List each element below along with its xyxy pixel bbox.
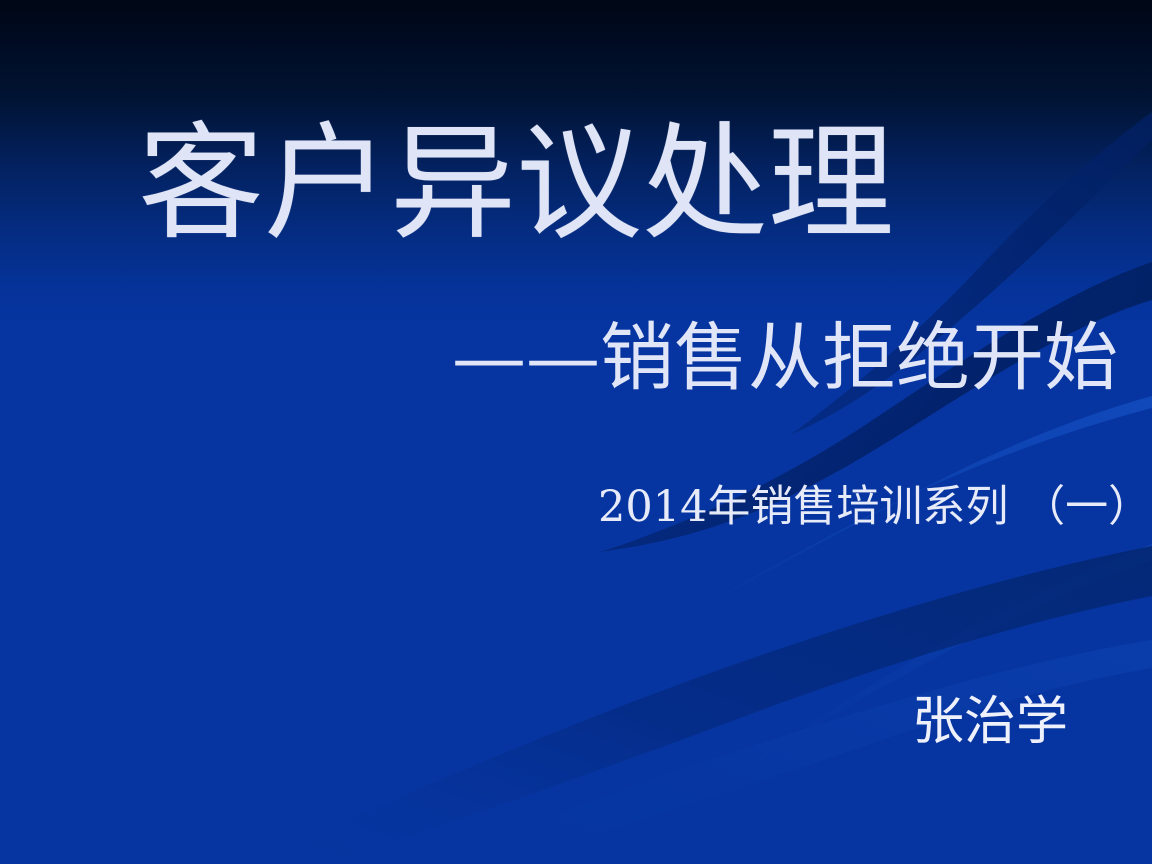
page-title: 客户异议处理: [138, 118, 894, 250]
page-subtitle: ——销售从拒绝开始: [452, 320, 1118, 398]
slide-text-layer: 客户异议处理 ——销售从拒绝开始 2014年销售培训系列 （一） 张治学: [0, 0, 1152, 864]
series-label: 2014年销售培训系列 （一）: [598, 484, 1151, 531]
title-slide: 客户异议处理 ——销售从拒绝开始 2014年销售培训系列 （一） 张治学: [0, 0, 1152, 864]
author-name: 张治学: [912, 694, 1068, 751]
